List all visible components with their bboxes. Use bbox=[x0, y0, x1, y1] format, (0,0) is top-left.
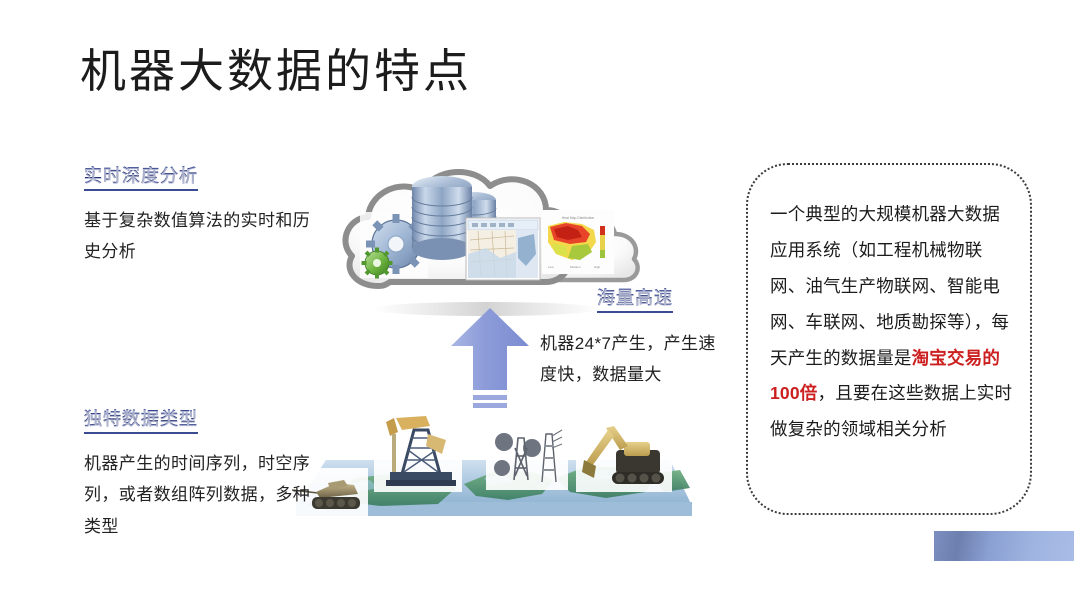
feature-block-realtime: 实时深度分析 基于复杂数值算法的实时和历史分析 bbox=[84, 162, 319, 268]
page-title: 机器大数据的特点 bbox=[80, 46, 472, 97]
callout-text: 一个典型的大规模机器大数据应用系统（如工程机械物联网、油气生产物联网、智能电网、… bbox=[770, 197, 1014, 448]
feature-heading-realtime: 实时深度分析 bbox=[84, 162, 198, 191]
svg-text:High: High bbox=[594, 265, 601, 269]
svg-text:Medium: Medium bbox=[570, 265, 581, 269]
feature-heading-datatype: 独特数据类型 bbox=[84, 405, 198, 434]
map-window-icon bbox=[466, 218, 540, 280]
oil-derrick-icon bbox=[374, 414, 462, 492]
feature-block-volume: 海量高速 机器24*7产生，产生速度快，数据量大 bbox=[540, 284, 730, 391]
feature-block-datatype: 独特数据类型 机器产生的时间序列，时空序列，或者数组阵列数据，多种类型 bbox=[84, 405, 319, 542]
corner-gradient-bar bbox=[934, 531, 1074, 561]
svg-text:Heat Map Distribution: Heat Map Distribution bbox=[562, 216, 595, 220]
feature-body-datatype: 机器产生的时间序列，时空序列，或者数组阵列数据，多种类型 bbox=[84, 448, 319, 542]
feature-body-volume: 机器24*7产生，产生速度快，数据量大 bbox=[540, 328, 730, 391]
callout-box: 一个典型的大规模机器大数据应用系统（如工程机械物联网、油气生产物联网、智能电网、… bbox=[746, 163, 1032, 515]
up-arrow-icon bbox=[447, 306, 533, 416]
excavator-icon bbox=[576, 426, 672, 492]
callout-text-before: 一个典型的大规模机器大数据应用系统（如工程机械物联网、油气生产物联网、智能电网、… bbox=[770, 204, 1009, 368]
world-map-graphic bbox=[288, 408, 698, 530]
svg-text:Low: Low bbox=[548, 265, 554, 269]
heatmap-icon: Heat Map Distribution Low Medium High bbox=[542, 210, 614, 274]
feature-heading-volume: 海量高速 bbox=[597, 284, 673, 313]
telecom-tower-icon bbox=[486, 424, 568, 490]
feature-body-realtime: 基于复杂数值算法的实时和历史分析 bbox=[84, 205, 319, 268]
